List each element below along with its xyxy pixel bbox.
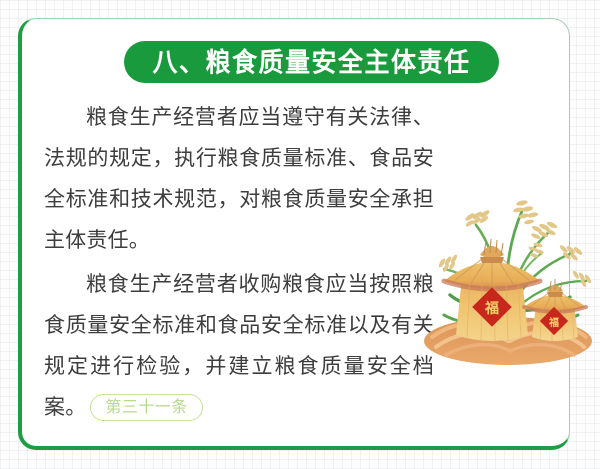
content-card: 八、粮食质量安全主体责任 粮食生产经营者应当遵守有关法律、法规的规定，执行粮食质… [18,18,570,450]
grain-heads-icon [437,198,593,289]
silo-small: 福 [524,279,586,343]
fu-label-small: 福 [540,307,568,335]
grain-silo-illustration: 福 [410,169,600,369]
page-background: 八、粮食质量安全主体责任 粮食生产经营者应当遵守有关法律、法规的规定，执行粮食质… [0,0,600,469]
page-title: 八、粮食质量安全主体责任 [152,49,470,76]
body-text-block: 粮食生产经营者应当遵守有关法律、法规的规定，执行粮食质量标准、食品安全标准和技术… [44,97,434,428]
section-title-pill: 八、粮食质量安全主体责任 [124,41,499,83]
silo-large: 福 [444,239,540,343]
article-reference-badge: 第三十一条 [90,394,203,421]
fu-label-large: 福 [472,287,512,327]
rice-stalks-icon [444,211,586,323]
paragraph-1: 粮食生产经营者应当遵守有关法律、法规的规定，执行粮食质量标准、食品安全标准和技术… [44,97,434,261]
svg-text:福: 福 [548,316,559,329]
paragraph-2-wrapper: 粮食生产经营者收购粮食应当按照粮食质量安全标准和食品安全标准以及有关规定进行检验… [44,264,434,428]
svg-text:福: 福 [484,300,499,317]
ground-mound [424,317,592,365]
